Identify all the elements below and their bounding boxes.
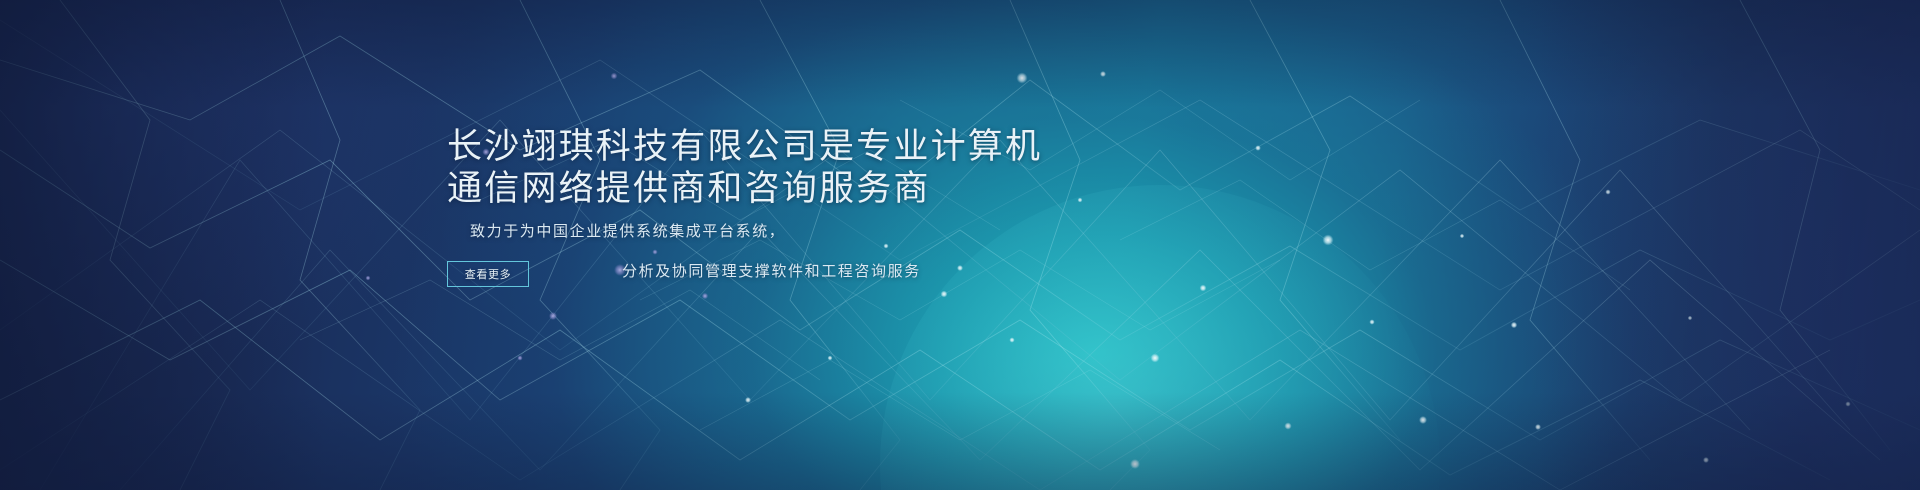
- subtitle-line-1: 致力于为中国企业提供系统集成平台系统，: [470, 212, 1230, 252]
- headline-line-2: 通信网络提供商和咨询服务商: [447, 168, 1147, 210]
- hero-banner: 长沙翊琪科技有限公司是专业计算机 通信网络提供商和咨询服务商 致力于为中国企业提…: [0, 0, 1920, 490]
- banner-content: 长沙翊琪科技有限公司是专业计算机 通信网络提供商和咨询服务商 致力于为中国企业提…: [0, 0, 1920, 490]
- view-more-button[interactable]: 查看更多: [447, 261, 529, 287]
- subtitle-line-2: 分析及协同管理支撑软件和工程咨询服务: [470, 252, 1230, 292]
- headline-line-1: 长沙翊琪科技有限公司是专业计算机: [447, 126, 1147, 168]
- banner-subtitle: 致力于为中国企业提供系统集成平台系统， 分析及协同管理支撑软件和工程咨询服务: [470, 212, 1230, 292]
- banner-headline: 长沙翊琪科技有限公司是专业计算机 通信网络提供商和咨询服务商: [447, 126, 1147, 210]
